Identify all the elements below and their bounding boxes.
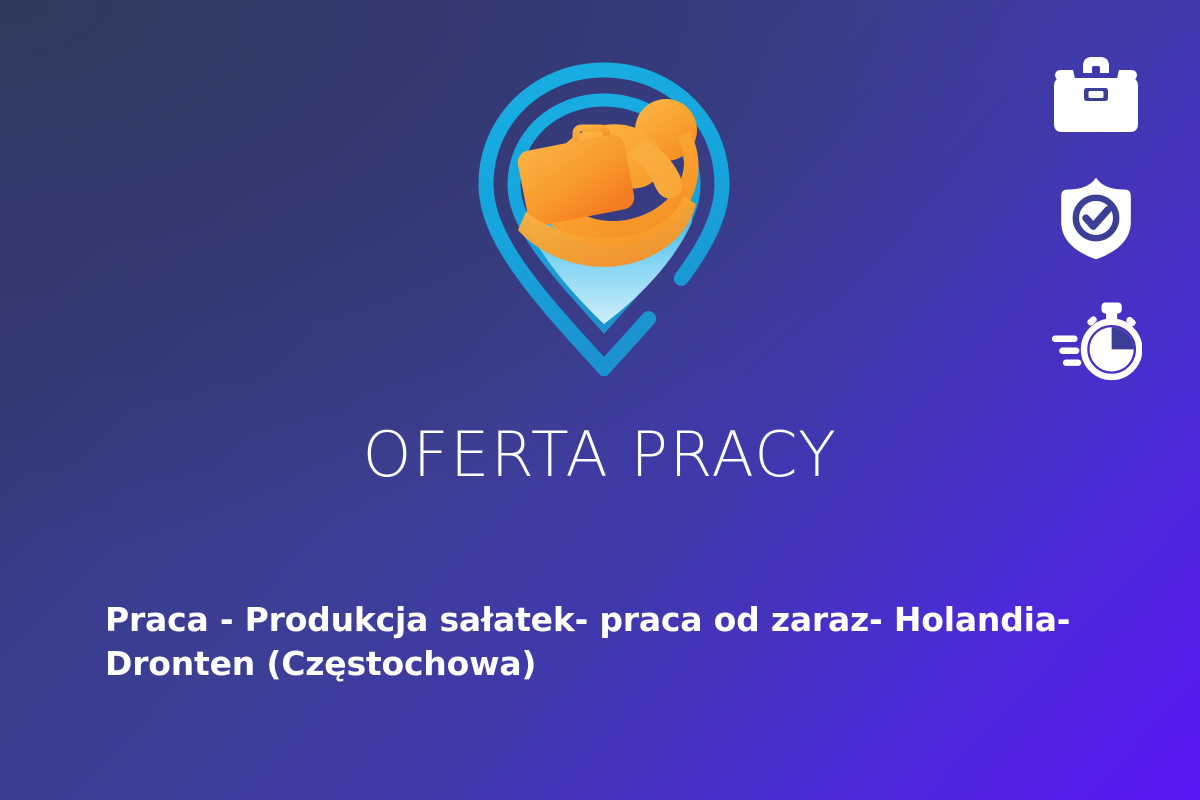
- job-offer-title: Praca - Produkcja sałatek- praca od zara…: [105, 598, 1115, 685]
- briefcase-icon: [1050, 50, 1142, 138]
- job-location-pin-logo: [476, 62, 732, 376]
- shield-check-icon: [1050, 174, 1142, 262]
- fast-stopwatch-icon: [1050, 298, 1142, 386]
- page-title: OFERTA PRACY: [0, 424, 1200, 486]
- job-offer-card: OFERTA PRACY Praca - Produkcja sałatek- …: [0, 0, 1200, 800]
- briefcase-body: [516, 132, 637, 227]
- feature-icon-rail: [1050, 50, 1142, 386]
